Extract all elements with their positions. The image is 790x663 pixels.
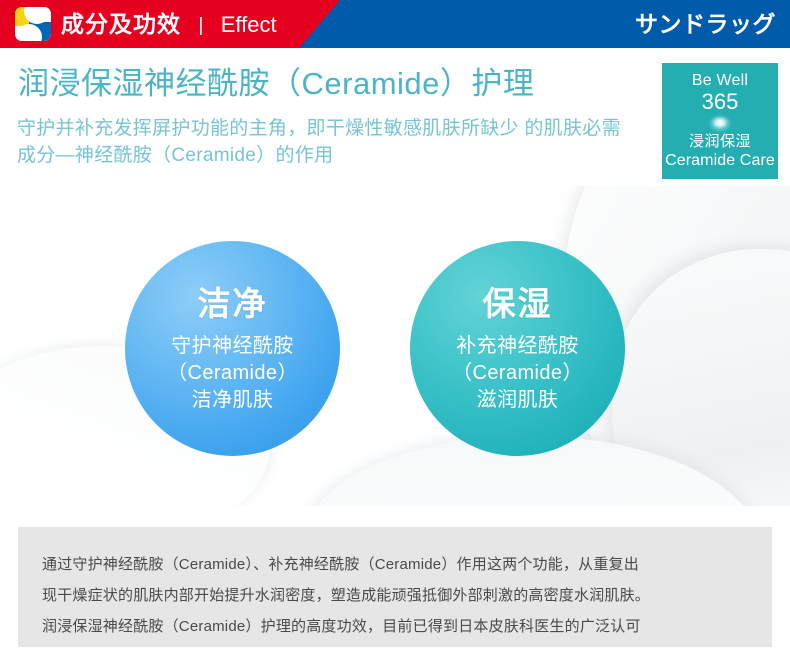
header-title: 成分及功效 | Effect (61, 9, 277, 41)
badge-line-cn: 浸润保湿 (689, 132, 751, 151)
benefit-heading-cleanse: 洁净 (198, 284, 268, 324)
product-effect-page: 成分及功效 | Effect サンドラッグ 润浸保湿神经酰胺（Ceramide）… (0, 0, 790, 663)
brand-wordmark: サンドラッグ (635, 9, 776, 39)
benefit-body-moisturize: 补充神经酰胺 （Ceramide） 滋润肌肤 (452, 333, 583, 414)
benefit-cleanse-line-3: 洁净肌肤 (167, 387, 298, 414)
benefit-cleanse-line-1: 守护神经酰胺 (167, 333, 298, 360)
summary-note-box: 通过守护神经酰胺（Ceramide）、补充神经酰胺（Ceramide）作用这两个… (18, 527, 772, 647)
benefit-circle-cleanse: 洁净 守护神经酰胺 （Ceramide） 洁净肌肤 (125, 241, 340, 456)
badge-line-be-well: Be Well (692, 71, 748, 90)
be-well-365-badge: Be Well 365 浸润保湿 Ceramide Care (662, 63, 778, 179)
benefit-moisturize-line-3: 滋润肌肤 (452, 387, 583, 414)
header-title-en: Effect (221, 12, 277, 37)
sundrug-swirl-logo-icon (15, 7, 51, 41)
badge-line-ceramide-care: Ceramide Care (665, 151, 775, 171)
page-header: 成分及功效 | Effect サンドラッグ (0, 0, 790, 48)
benefit-heading-moisturize: 保湿 (483, 284, 553, 324)
benefit-body-cleanse: 守护神经酰胺 （Ceramide） 洁净肌肤 (167, 333, 298, 414)
benefit-circle-moisturize: 保湿 补充神经酰胺 （Ceramide） 滋润肌肤 (410, 241, 625, 456)
water-drop-ellipse-icon (711, 117, 729, 130)
benefit-cleanse-line-2: （Ceramide） (167, 360, 298, 387)
badge-line-365: 365 (702, 89, 739, 114)
summary-note-line-2: 现干燥症状的肌肤内部开始提升水润密度，塑造成能顽强抵御外部刺激的高密度水润肌肤。 (42, 580, 748, 611)
benefit-moisturize-line-1: 补充神经酰胺 (452, 333, 583, 360)
header-title-cn: 成分及功效 (61, 11, 181, 37)
page-subtitle: 守护并补充发挥屏护功能的主角，即干燥性敏感肌肤所缺少 的肌肤必需成分—神经酰胺（… (17, 115, 637, 169)
summary-note-line-1: 通过守护神经酰胺（Ceramide）、补充神经酰胺（Ceramide）作用这两个… (42, 549, 748, 580)
header-title-separator: | (188, 11, 213, 41)
fabric-background-image (0, 186, 790, 506)
benefit-moisturize-line-2: （Ceramide） (452, 360, 583, 387)
page-title: 润浸保湿神经酰胺（Ceramide）护理 (18, 64, 534, 104)
summary-note-line-3: 润浸保湿神经酰胺（Ceramide）护理的高度功效，目前已得到日本皮肤科医生的广… (42, 611, 748, 642)
